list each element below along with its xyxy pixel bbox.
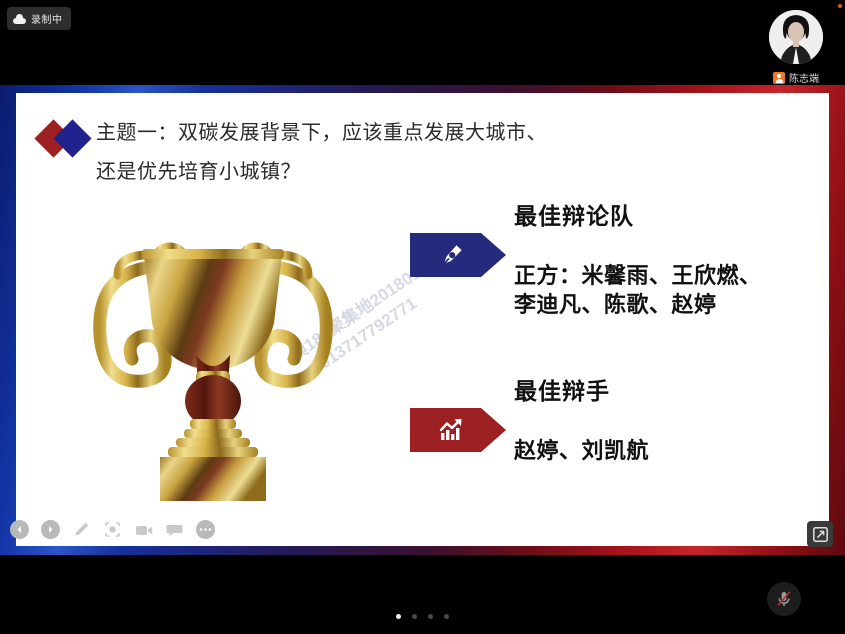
microphone-muted-button[interactable] <box>767 582 801 616</box>
laser-pointer-icon <box>104 521 121 538</box>
title-line-2: 还是优先培育小城镇？ <box>96 152 547 191</box>
diamond-bullet-icon <box>38 119 96 159</box>
meeting-screen-share-view: 录制中 陈志端 澳182聚集地201801040211 +86137177927 <box>0 0 845 634</box>
comment-icon <box>166 523 183 537</box>
bar-chart-up-icon <box>438 417 466 443</box>
recording-label: 录制中 <box>31 11 63 26</box>
video-camera-icon <box>135 523 153 537</box>
ellipsis-icon <box>199 527 212 532</box>
award-best-team: 最佳辩论队 正方：米馨雨、王欣燃、 李迪凡、陈歌、赵婷 <box>394 203 819 320</box>
slide-title: 主题一：双碳发展背景下，应该重点发展大城市、 还是优先培育小城镇？ <box>38 113 805 191</box>
pen-icon <box>73 521 90 538</box>
award-names: 正方：米馨雨、王欣燃、 李迪凡、陈歌、赵婷 <box>514 261 819 320</box>
pen-nib-icon <box>438 241 466 269</box>
participant-name-row: 陈志端 <box>757 70 835 85</box>
award-names: 赵婷、刘凯航 <box>514 436 819 466</box>
award-banner <box>410 408 506 452</box>
slide-pagination[interactable] <box>0 614 845 619</box>
participant-name: 陈志端 <box>789 70 819 85</box>
comment-button[interactable] <box>165 520 184 539</box>
title-line-1: 主题一：双碳发展背景下，应该重点发展大城市、 <box>96 113 547 152</box>
pagination-dot[interactable] <box>412 614 417 619</box>
pagination-dot[interactable] <box>428 614 433 619</box>
resize-expand-icon <box>813 527 828 542</box>
record-video-button[interactable] <box>134 520 153 539</box>
user-badge-icon <box>773 72 785 84</box>
award-best-debater: 最佳辩手 赵婷、刘凯航 <box>394 378 819 465</box>
slide-toolbar[interactable] <box>10 520 215 539</box>
pagination-dot[interactable] <box>396 614 401 619</box>
microphone-muted-icon <box>774 589 794 609</box>
awards-section: 最佳辩论队 正方：米馨雨、王欣燃、 李迪凡、陈歌、赵婷 <box>394 203 819 523</box>
previous-slide-button[interactable] <box>10 520 29 539</box>
award-heading: 最佳辩论队 <box>514 203 819 231</box>
annotate-pen-button[interactable] <box>72 520 91 539</box>
status-dot <box>838 4 842 8</box>
slide-canvas: 澳182聚集地201801040211 +8613717792771 主题一：双… <box>16 93 829 546</box>
more-options-button[interactable] <box>196 520 215 539</box>
play-button[interactable] <box>41 520 60 539</box>
cloud-icon <box>13 14 26 24</box>
award-heading: 最佳辩手 <box>514 378 819 406</box>
trophy-icon <box>78 205 348 505</box>
resize-expand-button[interactable] <box>807 521 833 547</box>
slide-title-text: 主题一：双碳发展背景下，应该重点发展大城市、 还是优先培育小城镇？ <box>96 113 547 191</box>
laser-pointer-button[interactable] <box>103 520 122 539</box>
recording-badge: 录制中 <box>7 7 71 30</box>
shared-slide[interactable]: 澳182聚集地201801040211 +8613717792771 主题一：双… <box>0 85 845 555</box>
pagination-dot[interactable] <box>444 614 449 619</box>
award-banner <box>410 233 506 277</box>
avatar <box>769 10 823 64</box>
participant-tile[interactable]: 陈志端 <box>757 6 835 85</box>
